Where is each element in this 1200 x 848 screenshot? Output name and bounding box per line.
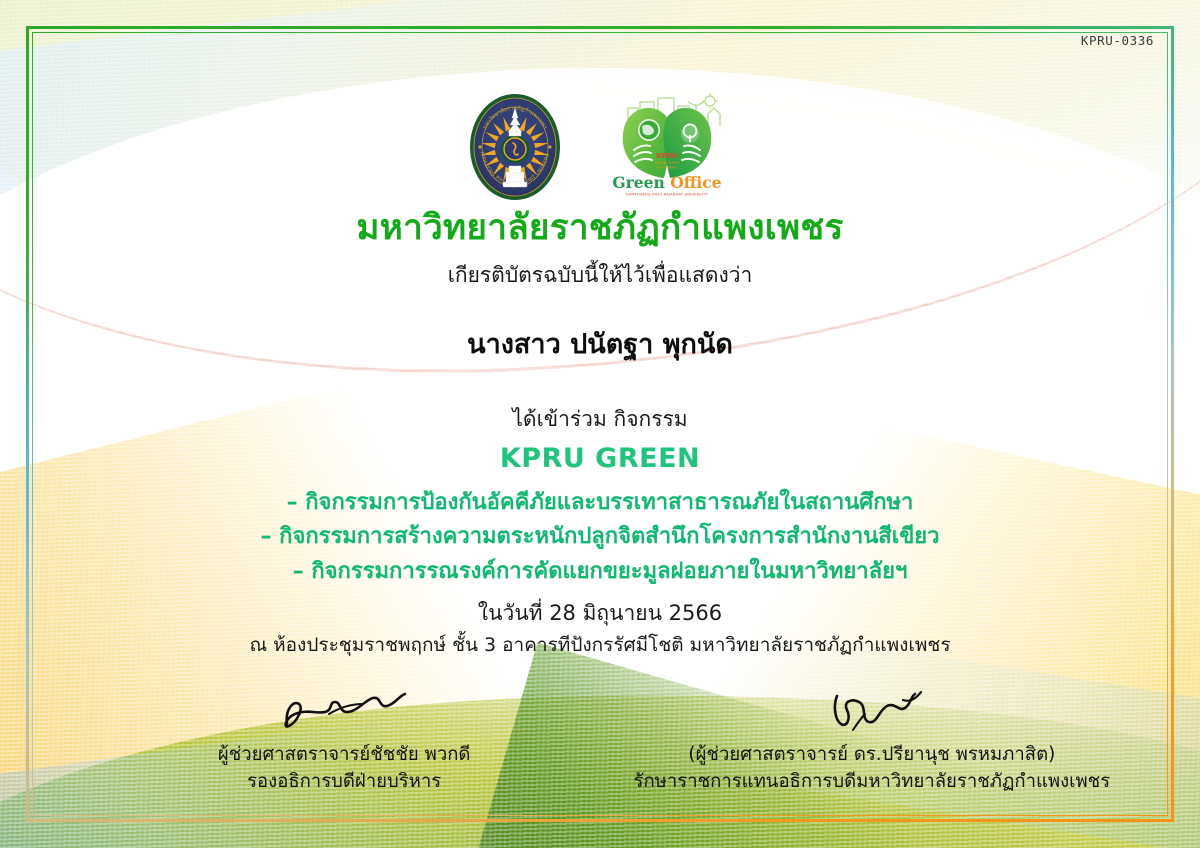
activity-item: – กิจกรรมการสร้างความตระหนักปลูกจิตสำนึก… xyxy=(60,520,1140,555)
green-office-logo-icon: KPRU GREEN OFFICE สำนักงานสีเขียว Green … xyxy=(604,92,732,200)
joined-label: ได้เข้าร่วม กิจกรรม xyxy=(60,406,1140,433)
signature-name-left: ผู้ช่วยศาสตราจารย์ชัชชัย พวกดี xyxy=(84,742,604,769)
activity-item: – กิจกรรมการรณรงค์การคัดแยกขยะมูลฝอยภายใ… xyxy=(60,555,1140,590)
logo-row: มหาวิทยาลัยราชภัฏกำแพงเพชร KAMPHAENG PHE… xyxy=(0,92,1200,202)
signature-title-left: รองอธิการบดีฝ่ายบริหาร xyxy=(84,769,604,796)
svg-text:KAMPHAENG PHET RAJABHAT UNIVER: KAMPHAENG PHET RAJABHAT UNIVERSITY xyxy=(626,193,708,197)
university-title: มหาวิทยาลัยราชภัฏกำแพงเพชร xyxy=(60,206,1140,250)
svg-text:Green Office: Green Office xyxy=(612,173,721,192)
handwritten-signature-icon xyxy=(269,684,419,742)
signature-name-right: (ผู้ช่วยศาสตราจารย์ ดร.ปรียานุช พรหมภาสิ… xyxy=(612,742,1132,769)
recipient-name: นางสาว ปนัตฐา พุกนัด xyxy=(60,327,1140,362)
signature-mark-left xyxy=(84,680,604,742)
handwritten-signature-icon xyxy=(807,684,937,742)
certificate-page: KPRU-0336 มหาวิทยาลัยราชภัฏกำแพงเพชร xyxy=(0,0,1200,848)
svg-text:สำนักงานสีเขียว: สำนักงานสีเขียว xyxy=(657,166,678,170)
certificate-subtitle: เกียรติบัตรฉบับนี้ให้ไว้เพื่อแสดงว่า xyxy=(60,262,1140,289)
signature-block-right: (ผู้ช่วยศาสตราจารย์ ดร.ปรียานุช พรหมภาสิ… xyxy=(612,680,1142,796)
signature-mark-right xyxy=(612,680,1132,742)
activity-item: – กิจกรรมการป้องกันอัคคีภัยและบรรเทาสาธา… xyxy=(60,486,1140,521)
kpru-university-seal-icon: มหาวิทยาลัยราชภัฏกำแพงเพชร KAMPHAENG PHE… xyxy=(468,92,562,202)
signature-row: ผู้ช่วยศาสตราจารย์ชัชชัย พวกดี รองอธิการ… xyxy=(58,680,1142,796)
event-venue: ณ ห้องประชุมราชพฤกษ์ ชั้น 3 อาคารทีปังกร… xyxy=(60,633,1140,658)
svg-text:KPRU: KPRU xyxy=(656,152,678,160)
document-code: KPRU-0336 xyxy=(1081,33,1154,48)
program-name: KPRU GREEN xyxy=(60,442,1140,476)
signature-block-left: ผู้ช่วยศาสตราจารย์ชัชชัย พวกดี รองอธิการ… xyxy=(58,680,604,796)
svg-text:GREEN OFFICE: GREEN OFFICE xyxy=(655,161,680,165)
event-date: ในวันที่ 28 มิถุนายน 2566 xyxy=(60,600,1140,627)
activity-list: – กิจกรรมการป้องกันอัคคีภัยและบรรเทาสาธา… xyxy=(60,486,1140,590)
signature-title-right: รักษาราชการแทนอธิการบดีมหาวิทยาลัยราชภัฏ… xyxy=(612,769,1132,796)
certificate-body: มหาวิทยาลัยราชภัฏกำแพงเพชร เกียรติบัตรฉบ… xyxy=(60,206,1140,658)
